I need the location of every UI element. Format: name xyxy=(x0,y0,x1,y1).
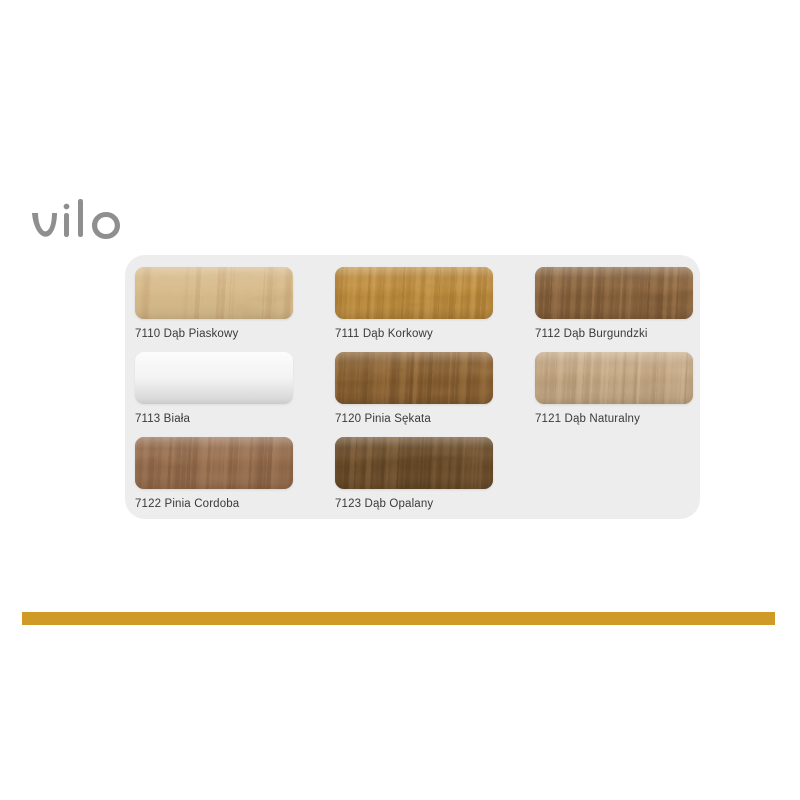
swatch-label-7111: 7111 Dąb Korkowy xyxy=(335,328,535,340)
swatch-cell-7110[interactable]: 7110 Dąb Piaskowy xyxy=(135,263,335,348)
gloss-overlay xyxy=(135,437,293,489)
swatch-label-7112: 7112 Dąb Burgundzki xyxy=(535,328,735,340)
swatch-tile-7113[interactable] xyxy=(135,352,293,404)
swatch-label-7121: 7121 Dąb Naturalny xyxy=(535,413,735,425)
vilo-logo-mark xyxy=(28,196,148,250)
swatch-label-7113: 7113 Biała xyxy=(135,413,335,425)
swatch-cell-7113[interactable]: 7113 Biała xyxy=(135,348,335,433)
gloss-overlay xyxy=(335,352,493,404)
swatch-tile-7110[interactable] xyxy=(135,267,293,319)
swatch-label-7110: 7110 Dąb Piaskowy xyxy=(135,328,335,340)
gloss-overlay xyxy=(335,267,493,319)
gloss-overlay xyxy=(335,437,493,489)
swatch-cell-7121[interactable]: 7121 Dąb Naturalny xyxy=(535,348,735,433)
swatch-cell-7112[interactable]: 7112 Dąb Burgundzki xyxy=(535,263,735,348)
gloss-overlay xyxy=(535,352,693,404)
swatch-tile-7111[interactable] xyxy=(335,267,493,319)
swatch-cell-7123[interactable]: 7123 Dąb Opalany xyxy=(335,433,535,518)
swatch-tile-7121[interactable] xyxy=(535,352,693,404)
swatch-tile-7122[interactable] xyxy=(135,437,293,489)
swatch-label-7120: 7120 Pinia Sękata xyxy=(335,413,535,425)
gloss-overlay xyxy=(535,267,693,319)
swatch-grid: 7110 Dąb Piaskowy 7111 Dąb Korkowy 7112 … xyxy=(135,263,690,511)
swatch-cell-7120[interactable]: 7120 Pinia Sękata xyxy=(335,348,535,433)
gold-accent-bar xyxy=(22,612,775,625)
gloss-overlay xyxy=(135,267,293,319)
swatch-label-7123: 7123 Dąb Opalany xyxy=(335,498,535,510)
swatch-tile-7112[interactable] xyxy=(535,267,693,319)
swatch-cell-7122[interactable]: 7122 Pinia Cordoba xyxy=(135,433,335,518)
vilo-logo xyxy=(28,196,148,250)
swatch-tile-7123[interactable] xyxy=(335,437,493,489)
gloss-overlay xyxy=(135,352,293,404)
swatch-tile-7120[interactable] xyxy=(335,352,493,404)
swatch-panel: 7110 Dąb Piaskowy 7111 Dąb Korkowy 7112 … xyxy=(125,255,700,519)
swatch-label-7122: 7122 Pinia Cordoba xyxy=(135,498,335,510)
swatch-cell-7111[interactable]: 7111 Dąb Korkowy xyxy=(335,263,535,348)
